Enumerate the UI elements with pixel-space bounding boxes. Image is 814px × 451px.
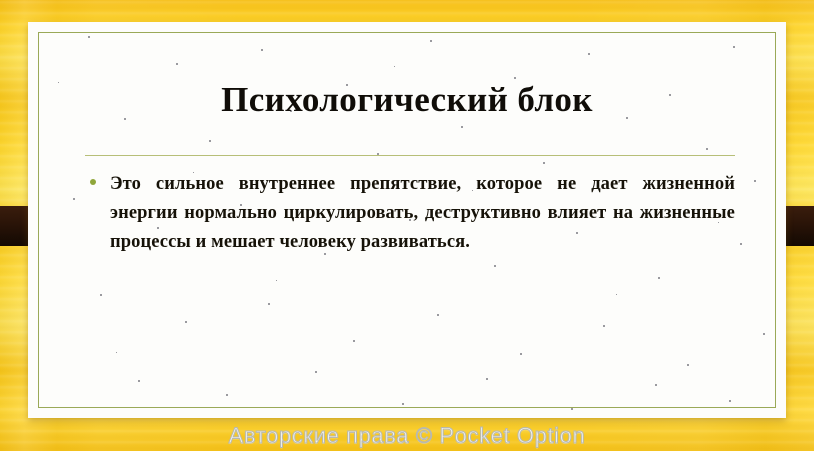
bullet-dot-icon: [90, 179, 96, 185]
bullet-list-item: Это сильное внутреннее препятствие, кото…: [85, 170, 735, 257]
slide-title: Психологический блок: [38, 80, 776, 120]
presentation-slide: Психологический блок Это сильное внутрен…: [0, 0, 814, 451]
bullet-text: Это сильное внутреннее препятствие, кото…: [85, 170, 735, 257]
slide-body: Это сильное внутреннее препятствие, кото…: [85, 170, 735, 257]
title-divider: [85, 155, 735, 156]
copyright-watermark: Авторские права © Pocket Option: [0, 423, 814, 449]
